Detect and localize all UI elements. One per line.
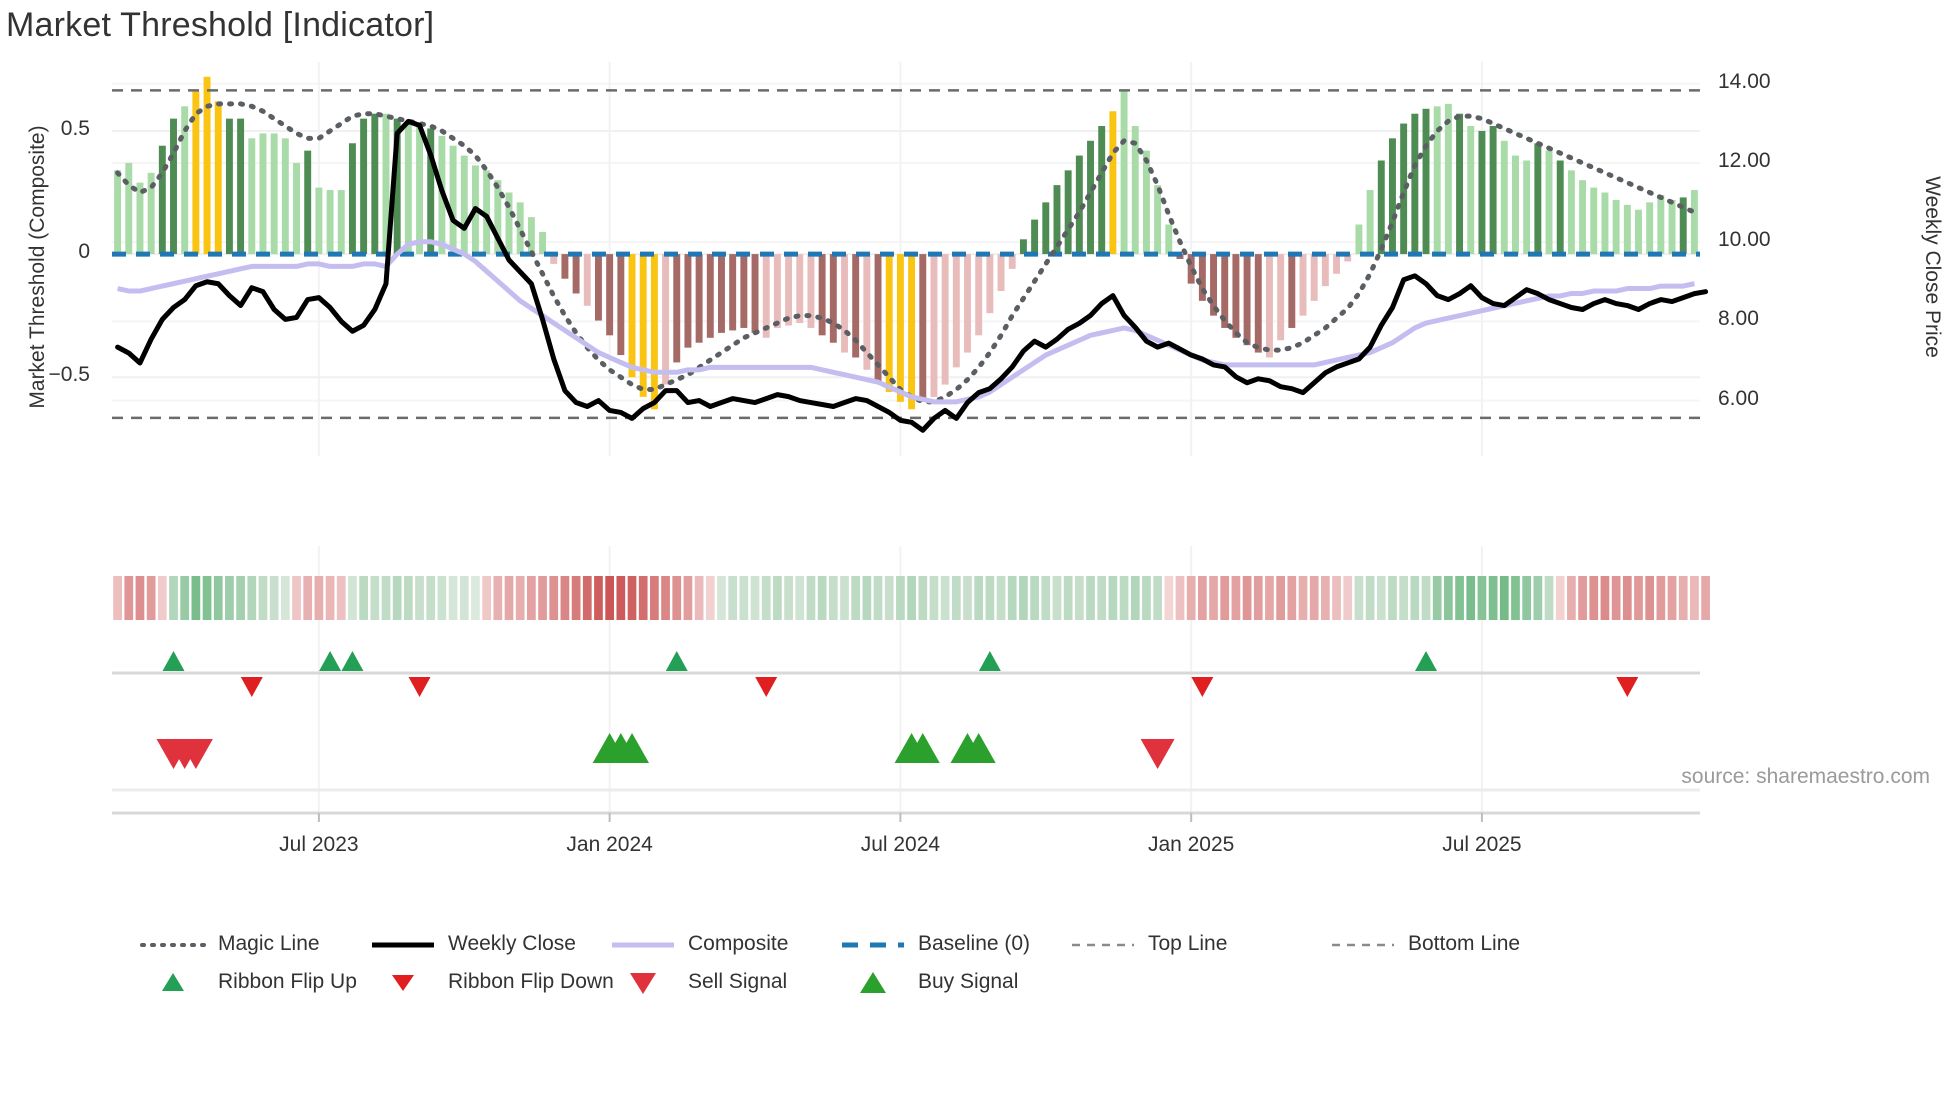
ribbon-cell (1355, 576, 1364, 620)
ribbon-cell (952, 576, 961, 620)
ribbon-cell (829, 576, 838, 620)
histogram-bar (1065, 170, 1072, 254)
legend-item-buy-signal[interactable]: Buy Signal (840, 970, 1018, 994)
ribbon-cell (1567, 576, 1576, 620)
histogram-bar (248, 138, 255, 254)
ribbon-cell (1299, 576, 1308, 620)
ribbon-flip-up-marker (163, 651, 185, 671)
ribbon-cell (225, 576, 234, 620)
ribbon-cell (784, 576, 793, 620)
legend-item-composite[interactable]: Composite (610, 932, 788, 956)
ribbon-cell (706, 576, 715, 620)
legend-key-ribbon-flip-down (370, 971, 436, 995)
histogram-bar (1534, 143, 1541, 254)
ribbon-cell (1041, 576, 1050, 620)
ribbon-cell (605, 576, 614, 620)
ribbon-cell (214, 576, 223, 620)
histogram-bar (998, 254, 1005, 291)
ribbon-cell (113, 576, 122, 620)
ribbon-cell (728, 576, 737, 620)
ribbon-cell (1097, 576, 1106, 620)
ribbon-cell (795, 576, 804, 620)
histogram-bar (1333, 254, 1340, 274)
y-tick-label: 0.5 (0, 117, 90, 141)
legend-key-reference-line (1330, 933, 1396, 957)
histogram-bar (908, 254, 915, 409)
histogram-bar (629, 254, 636, 377)
ribbon-cell (438, 576, 447, 620)
histogram-bar (986, 254, 993, 313)
histogram-bar (752, 254, 759, 333)
legend-label: Ribbon Flip Up (218, 970, 357, 994)
ribbon-cell (348, 576, 357, 620)
legend-key-composite (610, 933, 676, 957)
ribbon-cell (124, 576, 133, 620)
histogram-bar (1501, 141, 1508, 254)
x-tick-label: Jul 2025 (1392, 833, 1572, 857)
legend-item-top-line[interactable]: Top Line (1070, 932, 1227, 956)
histogram-bar (1601, 193, 1608, 255)
ribbon-cell (1198, 576, 1207, 620)
histogram-bar (841, 254, 848, 353)
ribbon-cell (247, 576, 256, 620)
histogram-bar (1467, 126, 1474, 254)
histogram-bar (450, 146, 457, 254)
ribbon-cell (1668, 576, 1677, 620)
histogram-bar (919, 254, 926, 402)
histogram-bar (1165, 225, 1172, 255)
triangle-down-icon (630, 973, 656, 994)
histogram-bar (1232, 254, 1239, 338)
ribbon-cell (907, 576, 916, 620)
ribbon-cell (1679, 576, 1688, 620)
histogram-bar (1389, 138, 1396, 254)
ribbon-cell (1287, 576, 1296, 620)
histogram-bar (1456, 114, 1463, 254)
ribbon-cell (471, 576, 480, 620)
histogram-bar (1322, 254, 1329, 286)
legend-key-buy-signal (840, 971, 906, 995)
legend-item-ribbon-flip-up[interactable]: Ribbon Flip Up (140, 970, 357, 994)
ribbon-cell (1478, 576, 1487, 620)
histogram-bar (1557, 161, 1564, 255)
histogram-bar (226, 119, 233, 254)
ribbon-cell (751, 576, 760, 620)
ribbon-flip-down-marker (1616, 677, 1638, 697)
legend-swatch (610, 933, 676, 955)
ribbon-cell (1690, 576, 1699, 620)
legend-item-baseline-0[interactable]: Baseline (0) (840, 932, 1030, 956)
histogram-bar (1691, 190, 1698, 254)
ribbon-cell (1522, 576, 1531, 620)
histogram-bar (1244, 254, 1251, 345)
ribbon-cell (505, 576, 514, 620)
y-tick-label-right: 6.00 (1718, 387, 1808, 411)
legend-label: Ribbon Flip Down (448, 970, 614, 994)
ribbon-cell (1008, 576, 1017, 620)
ribbon-cell (1589, 576, 1598, 620)
ribbon-cell (1321, 576, 1330, 620)
legend-swatch (140, 971, 206, 993)
ribbon-cell (1578, 576, 1587, 620)
ribbon-cell (672, 576, 681, 620)
ribbon-cell (1444, 576, 1453, 620)
ribbon-flip-up-marker (666, 651, 688, 671)
histogram-bar (349, 143, 356, 254)
ribbon-cell (818, 576, 827, 620)
histogram-bar (1423, 109, 1430, 254)
histogram-bar (930, 254, 937, 397)
histogram-bar (1300, 254, 1307, 316)
ribbon-cell (695, 576, 704, 620)
histogram-bar (1590, 188, 1597, 254)
ribbon-cell (918, 576, 927, 620)
histogram-bar (1266, 254, 1273, 357)
ribbon-cell (974, 576, 983, 620)
ribbon-cell (941, 576, 950, 620)
ribbon-cell (1377, 576, 1386, 620)
ribbon-flip-down-marker (1191, 677, 1213, 697)
histogram-bar (1154, 185, 1161, 254)
sell-signal-marker (1141, 739, 1175, 769)
histogram-bar (260, 133, 267, 254)
ribbon-cell (1388, 576, 1397, 620)
legend-item-sell-signal[interactable]: Sell Signal (610, 970, 787, 994)
ribbon-flip-down-marker (755, 677, 777, 697)
histogram-bar (1109, 111, 1116, 254)
histogram-bar (528, 217, 535, 254)
chart-root: Market Threshold [Indicator] Market Thre… (0, 0, 1960, 1102)
ribbon-cell (203, 576, 212, 620)
histogram-bar (1613, 200, 1620, 254)
legend-key-baseline (840, 933, 906, 957)
histogram-bar (215, 101, 222, 254)
histogram-bar (192, 92, 199, 255)
legend-row-lines: Magic LineWeekly CloseCompositeBaseline … (140, 925, 1900, 963)
histogram-bar (1031, 220, 1038, 254)
legend-key-ribbon-flip-up (140, 971, 206, 995)
histogram-bar (1288, 254, 1295, 328)
ribbon-cell (1120, 576, 1129, 620)
ribbon-cell (1064, 576, 1073, 620)
ribbon-cell (315, 576, 324, 620)
ribbon-cell (303, 576, 312, 620)
histogram-bar (159, 146, 166, 254)
ribbon-cell (1433, 576, 1442, 620)
ribbon-cell (1187, 576, 1196, 620)
ribbon-cell (1109, 576, 1118, 620)
legend-label: Composite (688, 932, 788, 956)
x-tick-label: Jan 2024 (520, 833, 700, 857)
ribbon-cell (1455, 576, 1464, 620)
ribbon-cell (874, 576, 883, 620)
x-tick-label: Jan 2025 (1101, 833, 1281, 857)
triangle-up-icon (860, 972, 886, 993)
ribbon-cell (426, 576, 435, 620)
ribbon-cell (1176, 576, 1185, 620)
histogram-bar (964, 254, 971, 353)
ribbon-cell (1511, 576, 1520, 620)
legend-item-magic-line[interactable]: Magic Line (140, 932, 320, 956)
ribbon-cell (1265, 576, 1274, 620)
ribbon-cell (449, 576, 458, 620)
histogram-bar (718, 254, 725, 333)
ribbon-cell (337, 576, 346, 620)
ribbon-cell (807, 576, 816, 620)
y-tick-label: −0.5 (0, 363, 90, 387)
ribbon-cell (684, 576, 693, 620)
histogram-bar (651, 254, 658, 409)
histogram-bar (729, 254, 736, 330)
legend-item-bottom-line[interactable]: Bottom Line (1330, 932, 1520, 956)
legend-swatch (840, 933, 906, 955)
ribbon-cell (1276, 576, 1285, 620)
histogram-bar (539, 232, 546, 254)
ribbon-cell (1422, 576, 1431, 620)
histogram-bar (897, 254, 904, 402)
legend-row-markers: Ribbon Flip UpRibbon Flip DownSell Signa… (140, 963, 1900, 1001)
ribbon-flip-up-marker (979, 651, 1001, 671)
histogram-bar (114, 170, 121, 254)
histogram-bar (125, 163, 132, 254)
ribbon-cell (1153, 576, 1162, 620)
ribbon-cell (493, 576, 502, 620)
ribbon-cell (717, 576, 726, 620)
histogram-bar (1512, 156, 1519, 255)
ribbon-cell (180, 576, 189, 620)
source-caption: source: sharemaestro.com (1681, 765, 1930, 789)
ribbon-cell (1545, 576, 1554, 620)
histogram-bar (1646, 202, 1653, 254)
ribbon-cell (192, 576, 201, 620)
histogram-bar (315, 188, 322, 254)
legend-item-weekly-close[interactable]: Weekly Close (370, 932, 576, 956)
histogram-bar (863, 254, 870, 370)
ribbon-cell (1612, 576, 1621, 620)
ribbon-cell (1533, 576, 1542, 620)
ribbon-cell (136, 576, 145, 620)
ribbon-cell (1410, 576, 1419, 620)
histogram-bar (282, 138, 289, 254)
histogram-bar (830, 254, 837, 343)
histogram-bar (338, 190, 345, 254)
histogram-bar (707, 254, 714, 338)
ribbon-cell (594, 576, 603, 620)
histogram-bar (1367, 190, 1374, 254)
ribbon-cell (1399, 576, 1408, 620)
histogram-bar (774, 254, 781, 328)
ribbon-cell (1164, 576, 1173, 620)
histogram-bar (1311, 254, 1318, 301)
ribbon-cell (986, 576, 995, 620)
legend-label: Top Line (1148, 932, 1227, 956)
ribbon-cell (158, 576, 167, 620)
ribbon-cell (840, 576, 849, 620)
histogram-bar (461, 156, 468, 255)
histogram-bar (1143, 151, 1150, 254)
ribbon-cell (1220, 576, 1229, 620)
histogram-bar (1546, 151, 1553, 254)
ribbon-cell (236, 576, 245, 620)
y-tick-label-right: 8.00 (1718, 307, 1808, 331)
legend-swatch (370, 933, 436, 955)
histogram-bar (1657, 195, 1664, 254)
histogram-bar (517, 202, 524, 254)
ribbon-cell (650, 576, 659, 620)
legend-swatch (370, 971, 436, 993)
triangle-up-icon (162, 973, 184, 991)
ribbon-flip-down-marker (409, 677, 431, 697)
ribbon-cell (1254, 576, 1263, 620)
ribbon-cell (862, 576, 871, 620)
ribbon-cell (1131, 576, 1140, 620)
histogram-bar (595, 254, 602, 320)
legend-label: Baseline (0) (918, 932, 1030, 956)
ribbon-cell (1656, 576, 1665, 620)
ribbon-cell (762, 576, 771, 620)
histogram-bar (684, 254, 691, 348)
ribbon-cell (930, 576, 939, 620)
ribbon-cell (628, 576, 637, 620)
ribbon-cell (169, 576, 178, 620)
histogram-bar (1277, 254, 1284, 340)
ribbon-cell (292, 576, 301, 620)
ribbon-cell (415, 576, 424, 620)
ribbon-cell (1366, 576, 1375, 620)
ribbon-cell (963, 576, 972, 620)
ribbon-cell (1209, 576, 1218, 620)
legend-label: Bottom Line (1408, 932, 1520, 956)
histogram-bar (1669, 200, 1676, 254)
histogram-bar (304, 151, 311, 254)
ribbon-cell (482, 576, 491, 620)
histogram-bar (953, 254, 960, 367)
y-tick-label: 0 (0, 240, 90, 264)
histogram-bar (617, 254, 624, 355)
ribbon-cell (1232, 576, 1241, 620)
histogram-bar (1255, 254, 1262, 353)
histogram-bar (640, 254, 647, 397)
ribbon-cell (561, 576, 570, 620)
ribbon-cell (572, 576, 581, 620)
ribbon-cell (382, 576, 391, 620)
legend-item-ribbon-flip-down[interactable]: Ribbon Flip Down (370, 970, 614, 994)
chart-legend: Magic LineWeekly CloseCompositeBaseline … (140, 925, 1900, 1001)
ribbon-cell (1601, 576, 1610, 620)
histogram-bar (360, 119, 367, 254)
histogram-bar (561, 254, 568, 279)
ribbon-cell (583, 576, 592, 620)
ribbon-flip-up-marker (319, 651, 341, 671)
histogram-bar (1579, 180, 1586, 254)
ribbon-cell (1500, 576, 1509, 620)
legend-swatch (140, 933, 206, 955)
ribbon-cell (1489, 576, 1498, 620)
ribbon-cell (773, 576, 782, 620)
histogram-bar (170, 119, 177, 254)
histogram-bar (740, 254, 747, 328)
ribbon-cell (527, 576, 536, 620)
ribbon-cell (1623, 576, 1632, 620)
legend-label: Weekly Close (448, 932, 576, 956)
ribbon-cell (1634, 576, 1643, 620)
ribbon-cell (739, 576, 748, 620)
ribbon-cell (639, 576, 648, 620)
histogram-bar (1098, 126, 1105, 254)
histogram-bar (1568, 170, 1575, 254)
histogram-bar (1355, 225, 1362, 255)
ribbon-cell (1645, 576, 1654, 620)
ribbon-cell (1030, 576, 1039, 620)
ribbon-cell (147, 576, 156, 620)
legend-label: Magic Line (218, 932, 320, 956)
histogram-bar (673, 254, 680, 362)
ribbon-cell (370, 576, 379, 620)
histogram-bar (584, 254, 591, 306)
histogram-bar (327, 190, 334, 254)
ribbon-cell (616, 576, 625, 620)
ribbon-cell (1243, 576, 1252, 620)
histogram-bar (1635, 210, 1642, 254)
histogram-bar (662, 254, 669, 385)
legend-key-magic-line (140, 933, 206, 957)
histogram-bar (1523, 161, 1530, 255)
ribbon-cell (549, 576, 558, 620)
histogram-bar (1378, 161, 1385, 255)
histogram-bar (1121, 92, 1128, 255)
histogram-bar (975, 254, 982, 335)
legend-label: Sell Signal (688, 970, 787, 994)
ribbon-cell (1332, 576, 1341, 620)
histogram-bar (606, 254, 613, 335)
legend-swatch (1330, 933, 1396, 955)
histogram-bar (293, 163, 300, 254)
histogram-bar (573, 254, 580, 293)
ribbon-cell (326, 576, 335, 620)
legend-key-sell-signal (610, 971, 676, 995)
histogram-bar (1490, 126, 1497, 254)
ribbon-cell (1086, 576, 1095, 620)
y-tick-label-right: 10.00 (1718, 228, 1808, 252)
histogram-bar (1624, 205, 1631, 254)
histogram-bar (405, 124, 412, 255)
histogram-bar (271, 133, 278, 254)
ribbon-cell (1075, 576, 1084, 620)
histogram-bar (696, 254, 703, 343)
ribbon-flip-down-marker (241, 677, 263, 697)
ribbon-flip-up-marker (341, 651, 363, 671)
y-tick-label-right: 14.00 (1718, 70, 1808, 94)
legend-swatch (840, 971, 906, 993)
histogram-bar (1042, 202, 1049, 254)
x-tick-label: Jul 2023 (229, 833, 409, 857)
histogram-bar (942, 254, 949, 385)
ribbon-cell (281, 576, 290, 620)
ribbon-cell (460, 576, 469, 620)
ribbon-cell (896, 576, 905, 620)
histogram-bar (1445, 104, 1452, 254)
histogram-bar (371, 114, 378, 254)
ribbon-cell (997, 576, 1006, 620)
ribbon-cell (1701, 576, 1710, 620)
ribbon-cell (1343, 576, 1352, 620)
legend-key-weekly-close (370, 933, 436, 957)
histogram-bar (237, 119, 244, 254)
ribbon-cell (404, 576, 413, 620)
histogram-bar (1411, 114, 1418, 254)
legend-key-reference-line (1070, 933, 1136, 957)
ribbon-cell (359, 576, 368, 620)
